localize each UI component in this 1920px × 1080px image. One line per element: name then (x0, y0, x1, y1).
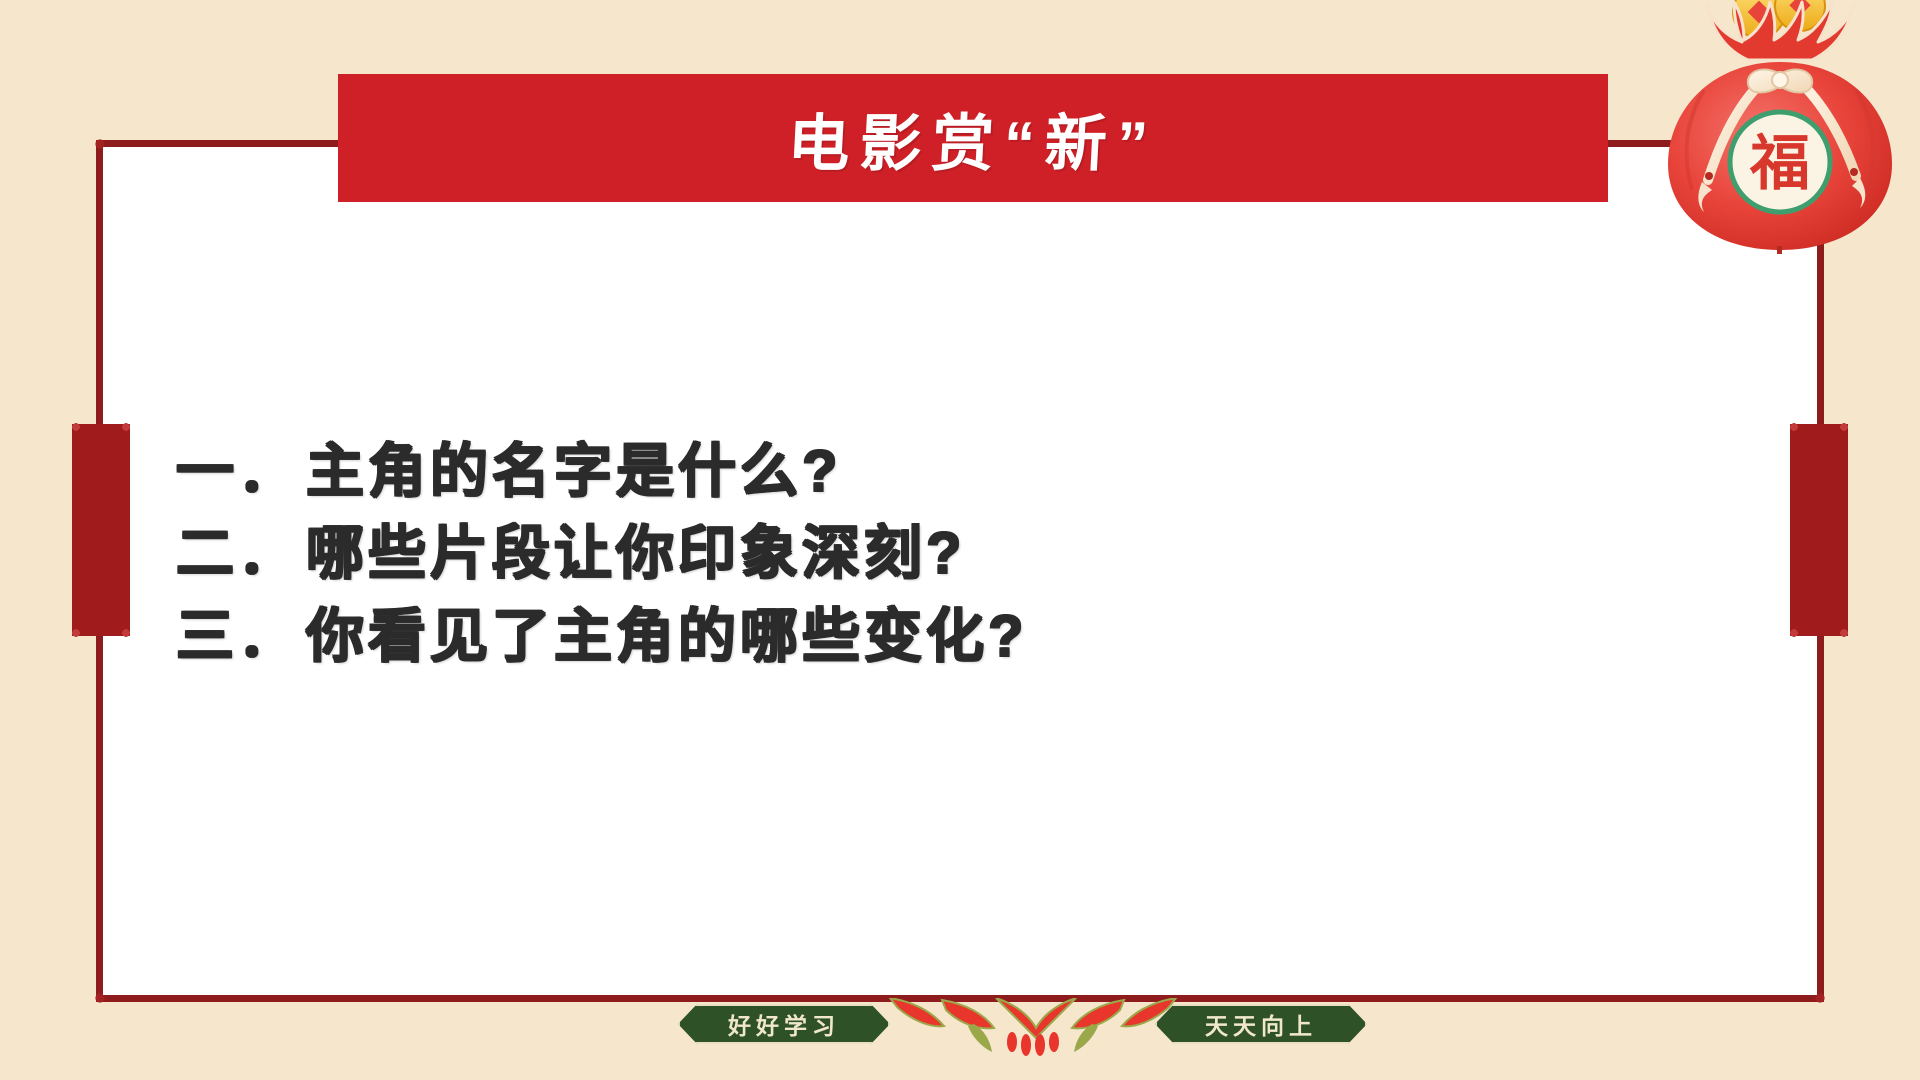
motto-banner-right: 天天向上 (1155, 1004, 1367, 1044)
list-item: 三．你看见了主角的哪些变化? (175, 595, 1425, 677)
question-index: 二． (175, 520, 299, 585)
tab-corner-dot-icon (1788, 627, 1800, 639)
page-title: 电影赏“新” (786, 93, 1161, 183)
frame-corner-ornament-bottom-right (1812, 990, 1828, 1006)
tab-corner-dot-icon (70, 421, 82, 433)
question-text: 主角的名字是什么? (305, 438, 840, 503)
motto-label-left: 好好学习 (728, 1007, 840, 1041)
list-item: 二．哪些片段让你印象深刻? (175, 512, 1425, 594)
tab-corner-dot-icon (70, 627, 82, 639)
decorative-side-tab-left (72, 424, 130, 636)
center-floral-ornament (888, 998, 1178, 1056)
question-index: 三． (175, 603, 299, 668)
list-item: 一．主角的名字是什么? (175, 430, 1425, 512)
bottom-decoration-strip: 好好学习 天天向上 (0, 998, 1920, 1080)
frame-corner-ornament-bottom-left (92, 990, 108, 1006)
question-text: 哪些片段让你印象深刻? (305, 520, 964, 585)
fortune-character: 福 (1749, 131, 1810, 197)
frame-corner-ornament-top-left (92, 136, 108, 152)
tab-corner-dot-icon (1838, 627, 1850, 639)
motto-label-right: 天天向上 (1205, 1007, 1317, 1041)
title-banner: 电影赏“新” (338, 74, 1608, 202)
question-index: 一． (175, 438, 299, 503)
decorative-side-tab-right (1790, 424, 1848, 636)
tab-corner-dot-icon (1788, 421, 1800, 433)
question-text: 你看见了主角的哪些变化? (305, 603, 1026, 668)
motto-banner-left: 好好学习 (678, 1004, 890, 1044)
floral-ornament-icon (888, 998, 1178, 1056)
ribbon-shape (678, 1004, 890, 1044)
ribbon-shape (1155, 1004, 1367, 1044)
tab-corner-dot-icon (120, 627, 132, 639)
tab-corner-dot-icon (120, 421, 132, 433)
tab-corner-dot-icon (1838, 421, 1850, 433)
question-list: 一．主角的名字是什么? 二．哪些片段让你印象深刻? 三．你看见了主角的哪些变化? (175, 430, 1425, 677)
fortune-pouch-decoration: 福 (1652, 0, 1902, 254)
fortune-pouch-icon: 福 (1652, 0, 1902, 254)
